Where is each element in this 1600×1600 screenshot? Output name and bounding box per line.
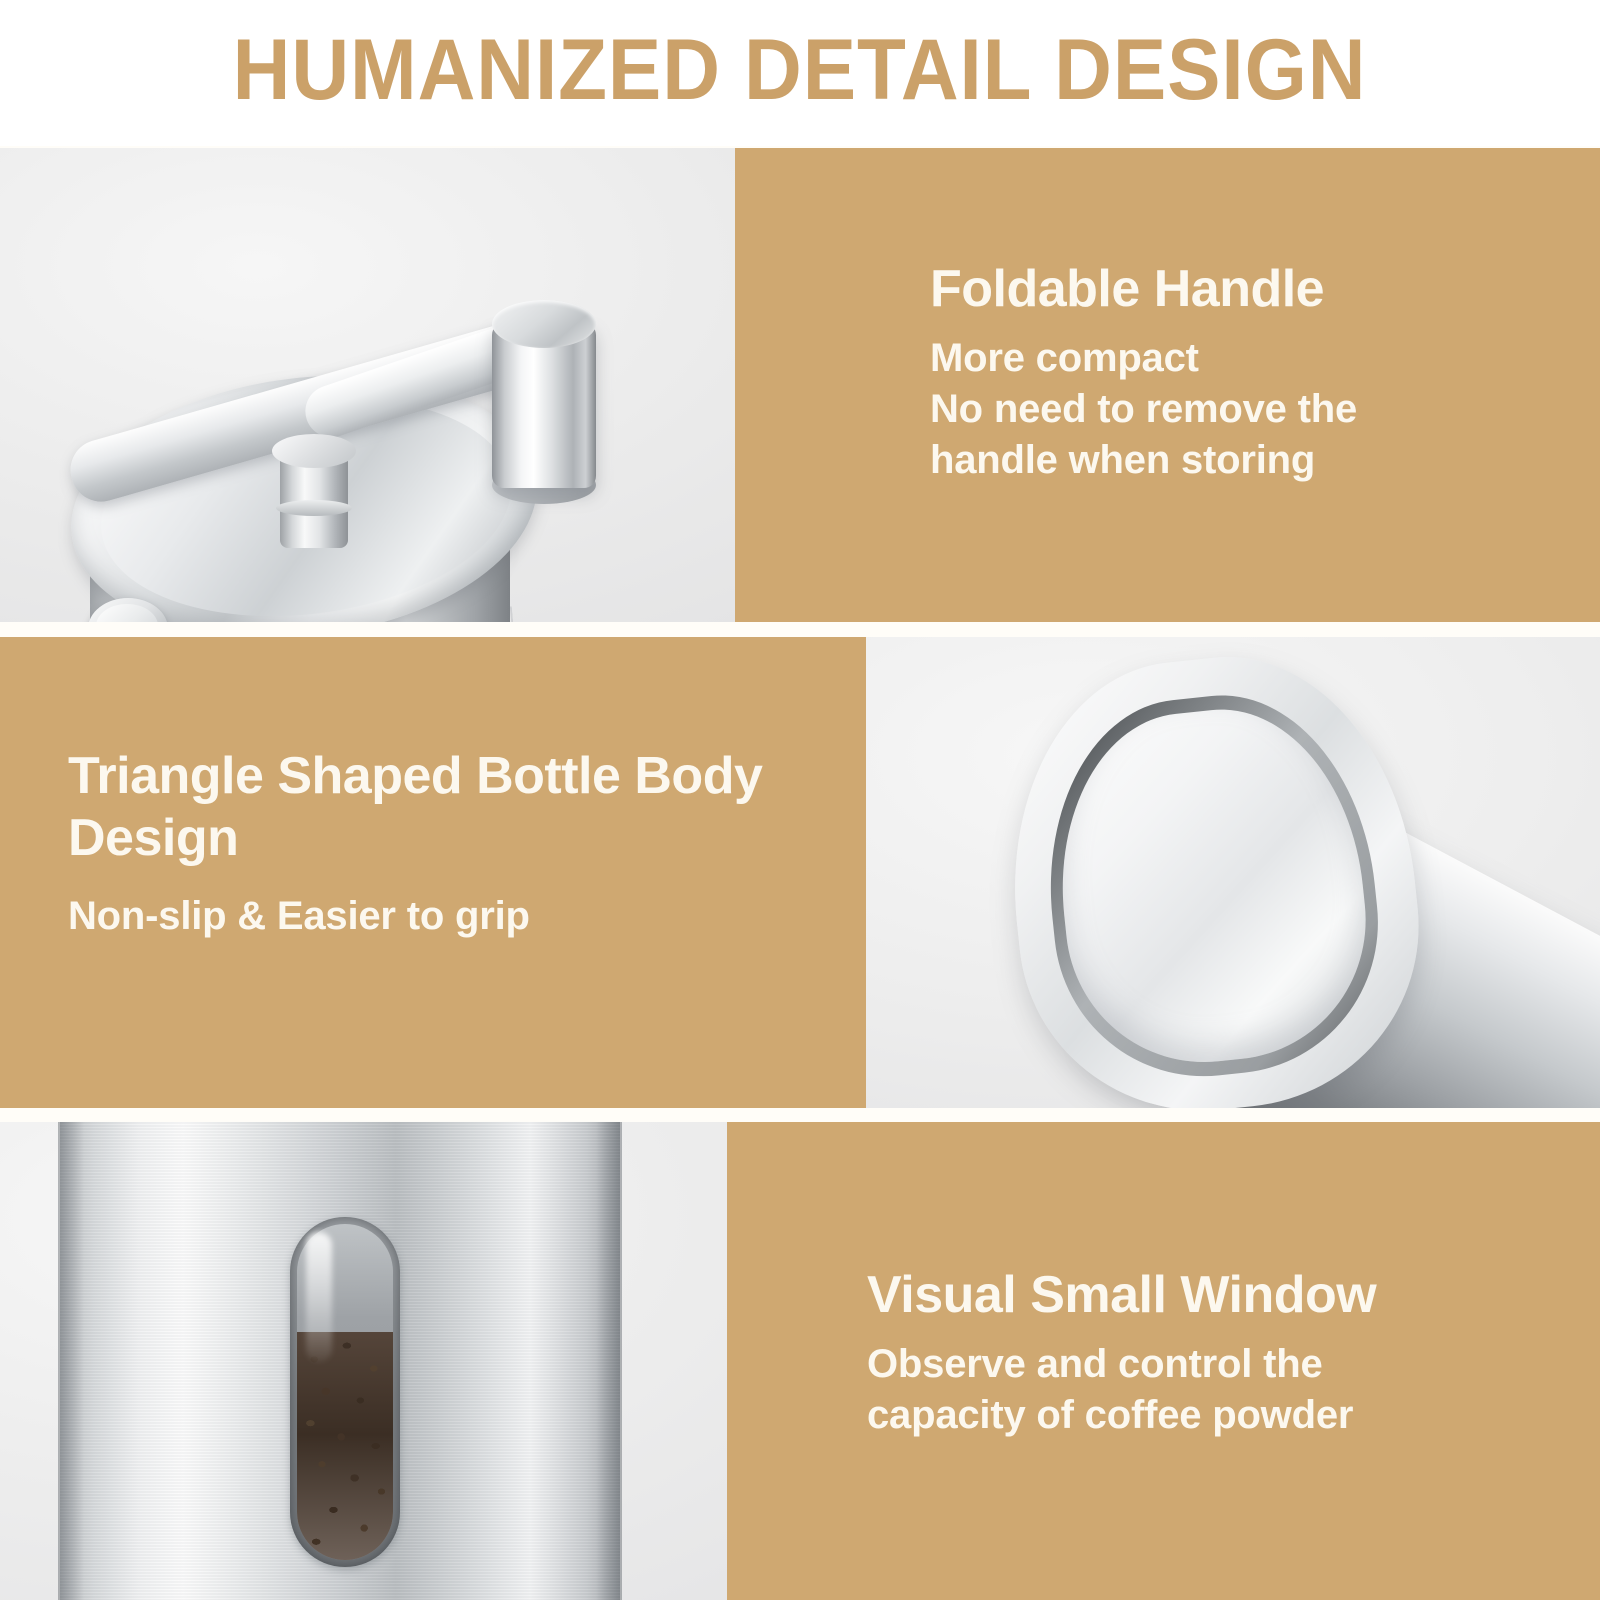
triangle-bottle-base-photo (866, 637, 1600, 1108)
feature-heading-line: Triangle Shaped Bottle (68, 747, 620, 805)
feature-text-panel-foldable-handle: Foldable Handle More compact No need to … (735, 148, 1600, 622)
feature-description-line: capacity of coffee powder (867, 1390, 1376, 1441)
feature-description: Non-slip & Easier to grip (68, 891, 828, 942)
product-feature-infographic: HUMANIZED DETAIL DESIGN (0, 0, 1600, 1600)
feature-description: Observe and control the capacity of coff… (867, 1339, 1376, 1441)
feature-description-line: Observe and control the (867, 1339, 1376, 1390)
feature-heading: Foldable Handle (930, 258, 1357, 320)
page-title: HUMANIZED DETAIL DESIGN (233, 27, 1367, 113)
bottle-edge-right (596, 1122, 622, 1600)
feature-photo-visual-window (0, 1122, 727, 1600)
feature-heading: Triangle Shaped Bottle Body Design (68, 745, 828, 869)
feature-text-panel-triangle-body: Triangle Shaped Bottle Body Design Non-s… (0, 637, 866, 1108)
feature-heading: Visual Small Window (867, 1264, 1376, 1326)
feature-description-line: handle when storing (930, 435, 1357, 486)
feature-description-line: Non-slip & Easier to grip (68, 891, 828, 942)
feature-text-block: Visual Small Window Observe and control … (867, 1264, 1376, 1441)
feature-text-block: Foldable Handle More compact No need to … (930, 258, 1357, 486)
window-glare (306, 1232, 332, 1362)
feature-text-block: Triangle Shaped Bottle Body Design Non-s… (68, 745, 828, 942)
feature-photo-foldable-handle (0, 148, 735, 622)
feature-row-foldable-handle: Foldable Handle More compact No need to … (0, 148, 1600, 622)
feature-description-line: More compact (930, 333, 1357, 384)
coffee-grounds (297, 1332, 393, 1560)
center-shaft-ring (276, 500, 352, 516)
feature-description-line: No need to remove the (930, 384, 1357, 435)
grinder-top-photo (0, 148, 735, 622)
feature-text-panel-visual-window: Visual Small Window Observe and control … (727, 1122, 1600, 1600)
bottle-window-photo (0, 1122, 727, 1600)
page-header: HUMANIZED DETAIL DESIGN (0, 0, 1600, 146)
center-shaft-cap (272, 434, 356, 468)
bottle-edge-left (58, 1122, 84, 1600)
crank-knob-top (492, 300, 596, 348)
feature-photo-triangle-body (866, 637, 1600, 1108)
feature-row-triangle-body: Triangle Shaped Bottle Body Design Non-s… (0, 637, 1600, 1108)
feature-description: More compact No need to remove the handl… (930, 333, 1357, 486)
feature-row-visual-window: Visual Small Window Observe and control … (0, 1122, 1600, 1600)
